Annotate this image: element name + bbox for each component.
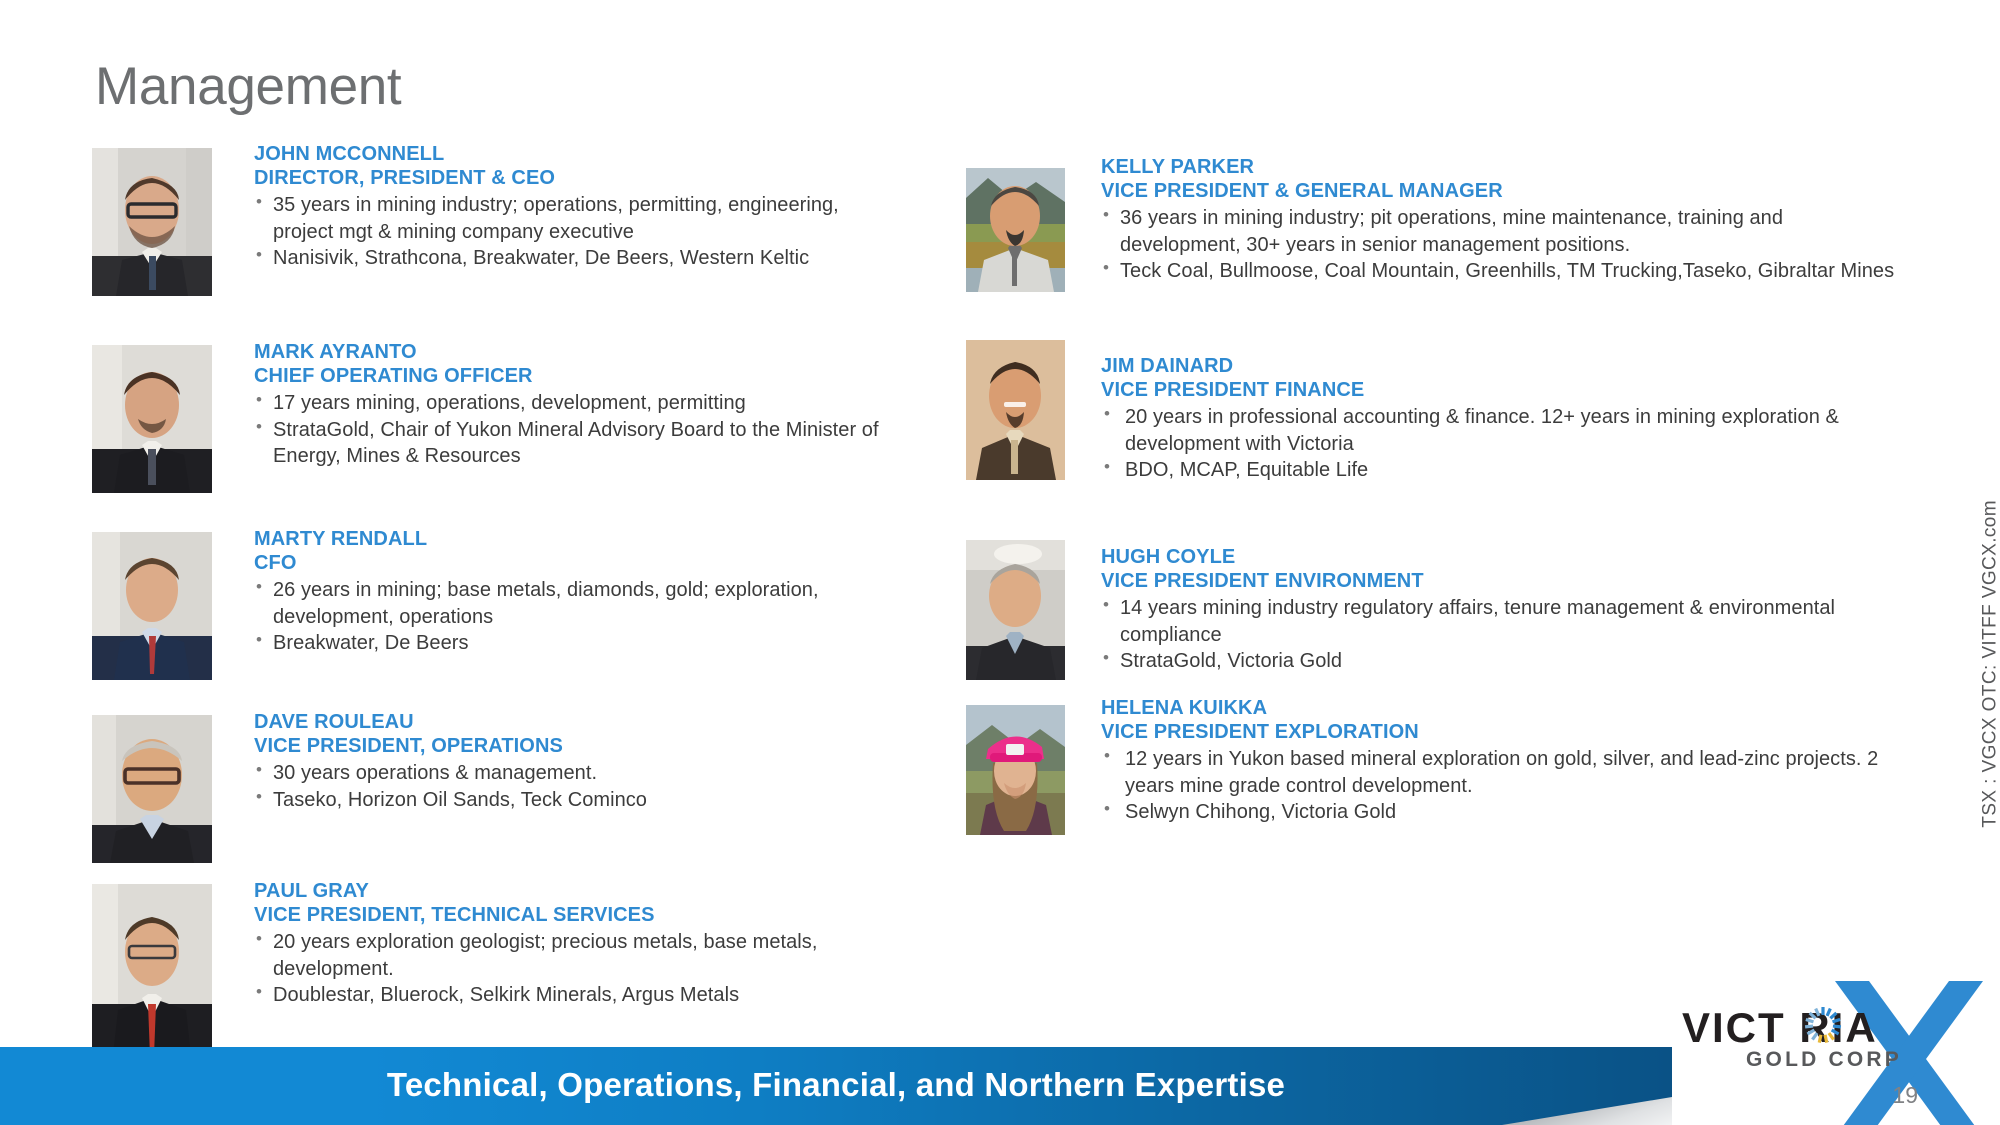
dave-rouleau-portrait (92, 715, 212, 863)
person-name: KELLY PARKER (1101, 156, 1901, 180)
bullet-item: 35 years in mining industry; operations,… (254, 192, 894, 245)
person-title: VICE PRESIDENT EXPLORATION (1101, 721, 1901, 745)
person-photo (92, 148, 212, 296)
kelly-parker-portrait (966, 168, 1065, 292)
person-title: VICE PRESIDENT ENVIRONMENT (1101, 570, 1901, 594)
bullet-item: 12 years in Yukon based mineral explorat… (1101, 746, 1901, 799)
starburst-icon (1803, 1005, 1843, 1045)
jim-dainard-portrait (966, 340, 1065, 480)
person-title: CHIEF OPERATING OFFICER (254, 365, 894, 389)
mark-ayranto-portrait (92, 345, 212, 493)
person-name: JOHN MCCONNELL (254, 143, 894, 167)
person-name: HUGH COYLE (1101, 546, 1901, 570)
person-bullets: 20 years in professional accounting & fi… (1101, 404, 1901, 483)
person-bullets: 36 years in mining industry; pit operati… (1101, 205, 1901, 284)
bullet-item: 26 years in mining; base metals, diamond… (254, 577, 894, 630)
person-bullets: 35 years in mining industry; operations,… (254, 192, 894, 271)
person-bio: KELLY PARKER VICE PRESIDENT & GENERAL MA… (1101, 156, 1901, 284)
person-photo (966, 168, 1065, 292)
paul-gray-portrait (92, 884, 212, 1064)
bullet-item: Selwyn Chihong, Victoria Gold (1101, 799, 1901, 825)
bullet-item: 17 years mining, operations, development… (254, 390, 894, 416)
hugh-coyle-portrait (966, 540, 1065, 680)
company-logo: VICT RIA (1660, 987, 1990, 1117)
person-title: DIRECTOR, PRESIDENT & CEO (254, 167, 894, 191)
person-bullets: 20 years exploration geologist; precious… (254, 929, 894, 1008)
bullet-item: StrataGold, Chair of Yukon Mineral Advis… (254, 417, 894, 470)
person-name: JIM DAINARD (1101, 355, 1901, 379)
bullet-item: StrataGold, Victoria Gold (1101, 648, 1901, 674)
person-name: DAVE ROULEAU (254, 711, 894, 735)
person-title: VICE PRESIDENT FINANCE (1101, 379, 1901, 403)
person-photo (92, 532, 212, 680)
john-mcconnell-portrait (92, 148, 212, 296)
bullet-item: 30 years operations & management. (254, 760, 894, 786)
logo-subtitle: GOLD CORP (1746, 1049, 1902, 1070)
helena-kuikka-portrait (966, 705, 1065, 835)
person-title: CFO (254, 552, 894, 576)
person-bullets: 12 years in Yukon based mineral explorat… (1101, 746, 1901, 825)
person-bio: JIM DAINARD VICE PRESIDENT FINANCE 20 ye… (1101, 355, 1901, 483)
bullet-item: 20 years exploration geologist; precious… (254, 929, 894, 982)
person-bio: PAUL GRAY VICE PRESIDENT, TECHNICAL SERV… (254, 880, 894, 1008)
person-bullets: 30 years operations & management. Taseko… (254, 760, 894, 813)
bullet-item: 14 years mining industry regulatory affa… (1101, 595, 1901, 648)
person-name: MARK AYRANTO (254, 341, 894, 365)
bullet-item: Breakwater, De Beers (254, 630, 894, 656)
person-bullets: 17 years mining, operations, development… (254, 390, 894, 469)
person-bio: HUGH COYLE VICE PRESIDENT ENVIRONMENT 14… (1101, 546, 1901, 674)
person-title: VICE PRESIDENT, OPERATIONS (254, 735, 894, 759)
person-bullets: 14 years mining industry regulatory affa… (1101, 595, 1901, 674)
ticker-listing-info: TSX : VGCX OTC: VITFF VGCX.com (1980, 500, 2000, 828)
bullet-item: BDO, MCAP, Equitable Life (1101, 457, 1901, 483)
page-title: Management (95, 60, 401, 113)
person-title: VICE PRESIDENT, TECHNICAL SERVICES (254, 904, 894, 928)
person-title: VICE PRESIDENT & GENERAL MANAGER (1101, 180, 1901, 204)
person-photo (966, 540, 1065, 680)
person-photo (966, 340, 1065, 480)
slide-management: Management (0, 0, 2000, 1125)
bullet-item: Nanisivik, Strathcona, Breakwater, De Be… (254, 245, 894, 271)
person-bullets: 26 years in mining; base metals, diamond… (254, 577, 894, 656)
person-name: PAUL GRAY (254, 880, 894, 904)
logo-wordmark: VICT RIA (1682, 1007, 1878, 1049)
page-number: 19 (1892, 1082, 1918, 1109)
bullet-item: Taseko, Horizon Oil Sands, Teck Cominco (254, 787, 894, 813)
person-bio: DAVE ROULEAU VICE PRESIDENT, OPERATIONS … (254, 711, 894, 813)
marty-rendall-portrait (92, 532, 212, 680)
person-bio: HELENA KUIKKA VICE PRESIDENT EXPLORATION… (1101, 697, 1901, 825)
person-bio: MARTY RENDALL CFO 26 years in mining; ba… (254, 528, 894, 656)
person-photo (966, 705, 1065, 835)
person-photo (92, 715, 212, 863)
bullet-item: Doublestar, Bluerock, Selkirk Minerals, … (254, 982, 894, 1008)
bullet-item: 36 years in mining industry; pit operati… (1101, 205, 1901, 258)
banner-tagline: Technical, Operations, Financial, and No… (0, 1047, 1672, 1125)
bullet-item: Teck Coal, Bullmoose, Coal Mountain, Gre… (1101, 258, 1901, 284)
person-photo (92, 345, 212, 493)
bullet-item: 20 years in professional accounting & fi… (1101, 404, 1901, 457)
person-bio: JOHN MCCONNELL DIRECTOR, PRESIDENT & CEO… (254, 143, 894, 271)
person-photo (92, 884, 212, 1064)
person-bio: MARK AYRANTO CHIEF OPERATING OFFICER 17 … (254, 341, 894, 469)
person-name: HELENA KUIKKA (1101, 697, 1901, 721)
person-name: MARTY RENDALL (254, 528, 894, 552)
